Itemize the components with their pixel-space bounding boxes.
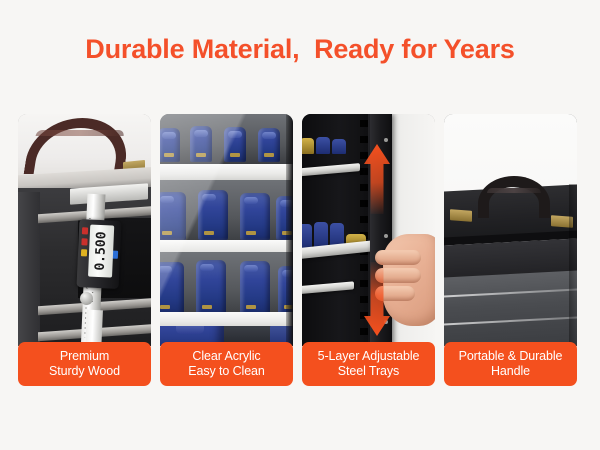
cabinet-left-column — [18, 192, 40, 346]
caption-line-1: Clear Acrylic — [192, 349, 260, 364]
shelf-row — [160, 180, 293, 242]
feature-panel-adjustable-trays: 5-Layer Adjustable Steel Trays — [302, 114, 435, 386]
arrow-down-icon — [364, 262, 390, 336]
caption-line-2: Easy to Clean — [188, 364, 265, 379]
hand — [383, 234, 435, 326]
caliper-button-cluster — [81, 227, 88, 260]
caliper-measurement-value: 0.500 — [93, 231, 110, 271]
feature-panel-strip: 0.500 Premium Sturdy Wood — [18, 114, 584, 386]
caliper-display-housing: 0.500 — [77, 219, 122, 289]
photo-leather-handle — [444, 114, 577, 346]
photo-adjustable-steel-tray — [302, 114, 435, 346]
page-title: Durable Material, Ready for Years — [0, 34, 600, 65]
caliper-thumb-wheel — [80, 292, 93, 305]
photo-caliper-measuring-wood: 0.500 — [18, 114, 151, 346]
shelf-row — [160, 252, 293, 316]
cabinet-glass-front — [444, 270, 577, 346]
feature-panel-premium-sturdy-wood: 0.500 Premium Sturdy Wood — [18, 114, 151, 386]
cabinet-right-edge — [286, 114, 293, 346]
caption-clear-acrylic: Clear Acrylic Easy to Clean — [160, 342, 293, 386]
cabinet-edge-shadow — [569, 184, 577, 346]
caption-adjustable-trays: 5-Layer Adjustable Steel Trays — [302, 342, 435, 386]
figure-group-upper — [302, 136, 354, 154]
caption-line-2: Sturdy Wood — [49, 364, 120, 379]
caption-portable-handle: Portable & Durable Handle — [444, 342, 577, 386]
caption-line-1: 5-Layer Adjustable — [318, 349, 420, 364]
caption-premium-sturdy-wood: Premium Sturdy Wood — [18, 342, 151, 386]
shelf-row — [160, 114, 293, 164]
caption-line-1: Portable & Durable — [459, 349, 563, 364]
feature-panel-clear-acrylic: Clear Acrylic Easy to Clean — [160, 114, 293, 386]
photo-figures-behind-acrylic — [160, 114, 293, 346]
arrow-up-icon — [364, 144, 390, 214]
caliper-lcd-screen: 0.500 — [88, 225, 114, 278]
caliper-lower-blade — [85, 310, 103, 346]
caption-line-1: Premium — [60, 349, 109, 364]
shelf-reflection-line — [444, 288, 577, 298]
feature-panel-portable-handle: Portable & Durable Handle — [444, 114, 577, 386]
caption-line-2: Handle — [491, 364, 530, 379]
shelf-reflection-line — [444, 316, 577, 326]
brass-bracket-left-icon — [450, 209, 472, 222]
caption-line-2: Steel Trays — [338, 364, 399, 379]
